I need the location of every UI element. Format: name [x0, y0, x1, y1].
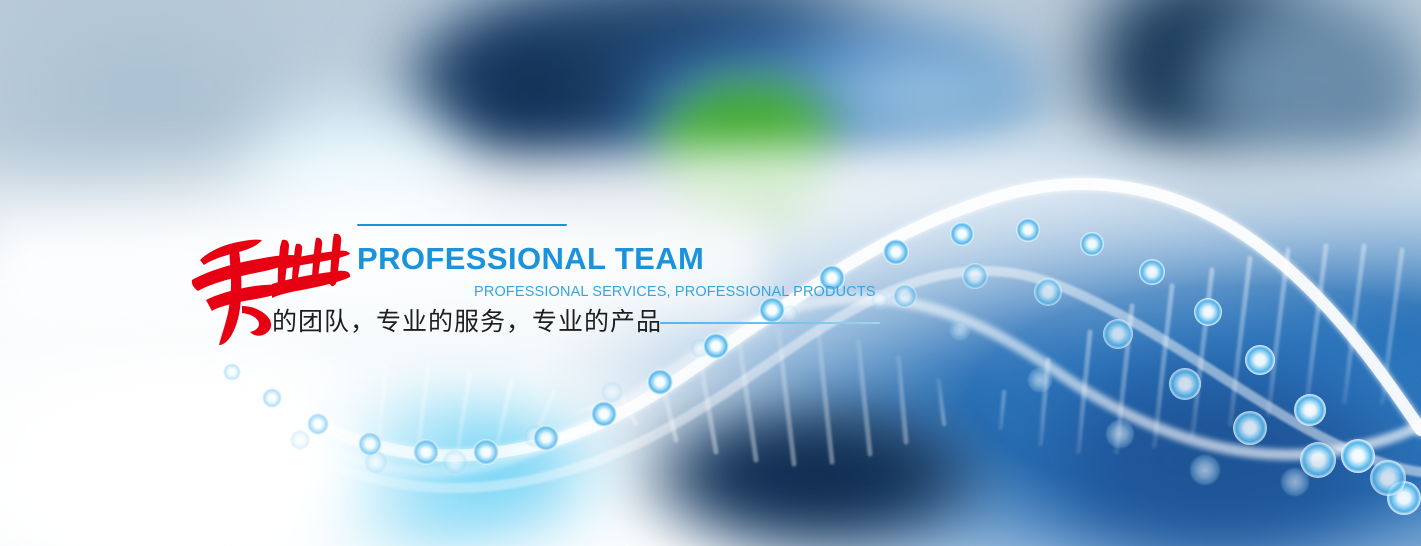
- decorative-rule-bottom: [660, 322, 880, 324]
- banner-content: PROFESSIONAL TEAM PROFESSIONAL SERVICES,…: [0, 0, 1421, 546]
- decorative-rule-top: [357, 224, 567, 226]
- hero-banner: PROFESSIONAL TEAM PROFESSIONAL SERVICES,…: [0, 0, 1421, 546]
- banner-tagline-chinese: 的团队，专业的服务，专业的产品: [272, 308, 662, 336]
- banner-subtitle-english: PROFESSIONAL SERVICES, PROFESSIONAL PROD…: [474, 285, 876, 300]
- banner-title-english: PROFESSIONAL TEAM: [357, 243, 704, 274]
